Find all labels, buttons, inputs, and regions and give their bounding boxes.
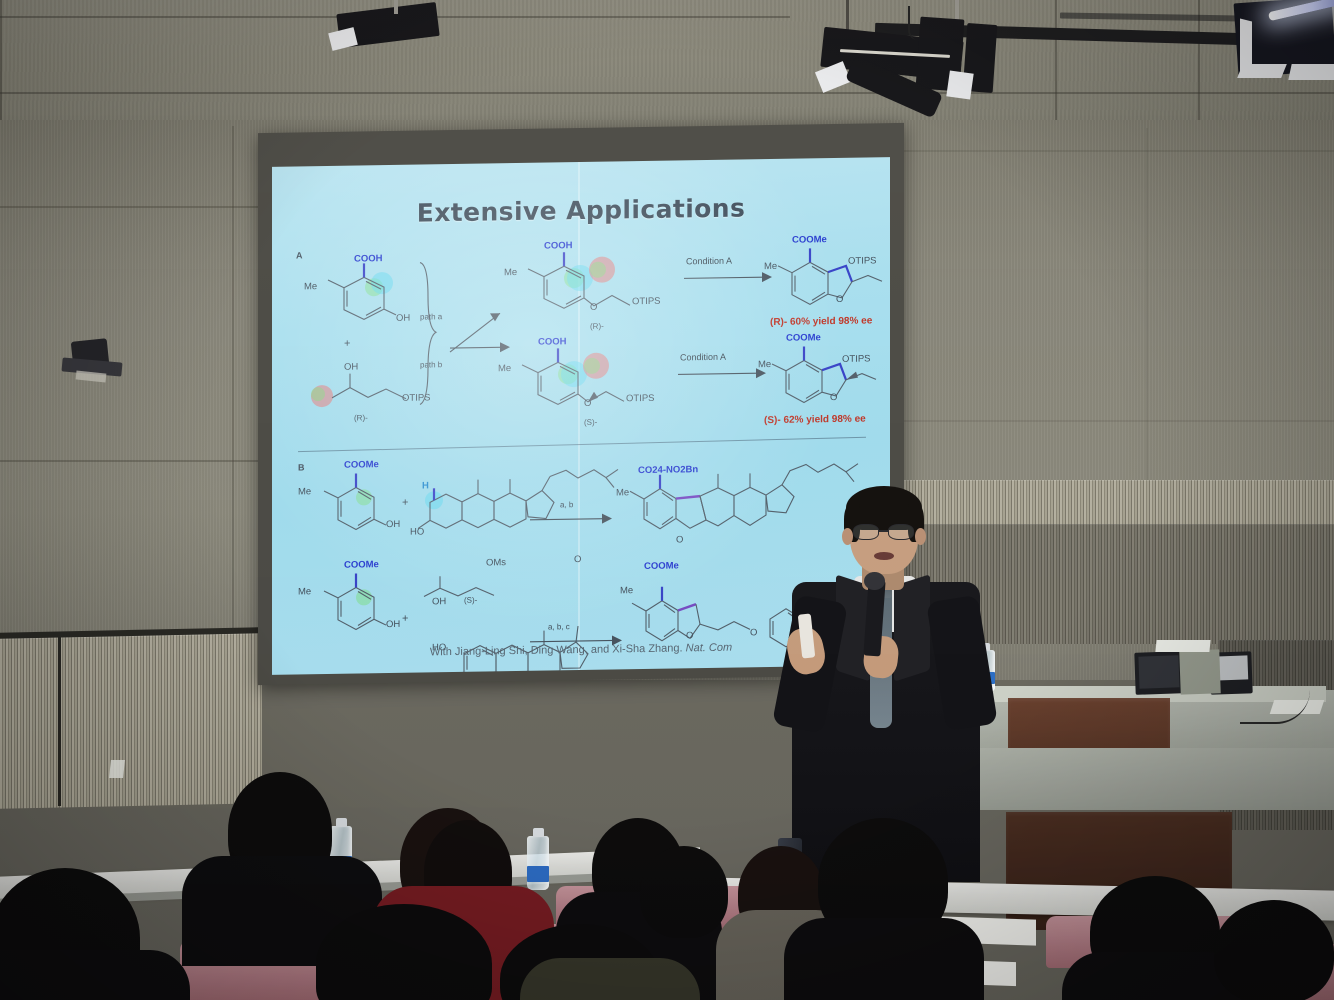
b1-arrow-label: a, b [560, 500, 573, 509]
b2-me: Me [298, 586, 311, 597]
b1-product-o: O [676, 534, 683, 545]
wall-seam [900, 150, 1334, 152]
wainscot-trim [58, 636, 61, 806]
intermediate-r-cooh: COOH [544, 240, 573, 251]
intermediate-s-config: (S)- [584, 418, 597, 427]
presenter-glasses-left [853, 524, 879, 540]
b2-oms: OMs [486, 557, 506, 568]
wall-seam [0, 460, 262, 462]
ceiling-seam [0, 0, 2, 130]
citation-journal: Nat. Com [686, 642, 732, 655]
light-barndoor [1237, 64, 1287, 78]
b2-ketone-o: O [574, 554, 581, 565]
product-s-me: Me [758, 359, 771, 370]
lectern-paper [1155, 640, 1210, 652]
wall-notice [109, 760, 125, 778]
b2-arrow-label: a, b, c [548, 622, 570, 631]
bottle-label [527, 866, 549, 882]
b2-product-me: Me [620, 585, 633, 596]
product-r-me: Me [764, 261, 777, 272]
product-s-o: O [830, 392, 837, 403]
audience-head-front [1214, 900, 1334, 1000]
light-pole [394, 0, 398, 14]
surveillance-camera [62, 340, 132, 392]
intermediate-r-me: Me [504, 267, 517, 278]
scheme-a-reagent1-structure [306, 257, 416, 347]
monitor-screen [1138, 655, 1179, 688]
path-a-label: path a [420, 312, 442, 321]
lectern-monitor-left[interactable] [1134, 651, 1183, 695]
microphone-head [864, 572, 885, 590]
ceiling-seam [0, 92, 1334, 94]
b1-me: Me [298, 486, 311, 497]
intermediate-r-o: O [590, 302, 597, 313]
presenter-ear [842, 528, 853, 545]
condition-a-label-1: Condition A [686, 256, 732, 267]
intermediate-s-otips: OTIPS [626, 393, 655, 404]
scheme-b-row2-estrone-structure [450, 581, 620, 674]
light-barndoor [328, 27, 358, 51]
product-s-otips: OTIPS [842, 353, 871, 364]
bottle-cap [336, 818, 347, 827]
product-r-otips: OTIPS [848, 255, 877, 266]
presenter-ear [915, 528, 926, 545]
product-r-coome: COOMe [792, 234, 827, 246]
intermediate-r-config: (R)- [590, 322, 604, 331]
b2-product-coome: COOMe [644, 560, 679, 572]
wall-seam [900, 420, 1334, 422]
presenter-lapel-right [894, 574, 930, 682]
intermediate-r-otips: OTIPS [632, 296, 661, 307]
reagent1-cooh-label: COOH [354, 253, 383, 264]
b2-oh: OH [386, 619, 400, 630]
scheme-b-row2-reagent-structure [302, 565, 412, 653]
b2-product-ether-o: O [750, 627, 757, 638]
reagent1-oh-label: OH [396, 313, 410, 324]
intermediate-s-o: O [584, 398, 591, 409]
presenter-glasses-bridge [879, 530, 888, 532]
b1-partner-ho: HO [410, 526, 424, 537]
condition-a-label-2: Condition A [680, 352, 726, 363]
power-cable [908, 6, 932, 40]
presenter-mouth [874, 552, 894, 560]
stage-light-right [1232, 0, 1334, 112]
slide-title: Extensive Applications [272, 191, 890, 230]
audience-head-front [640, 846, 728, 938]
b1-partner-h: H [422, 480, 429, 491]
path-b-label: path b [420, 360, 442, 369]
ceiling [0, 0, 1334, 130]
scheme-a-product-r-structure [776, 239, 890, 321]
scheme-a-product-s-structure [770, 337, 886, 419]
b1-product-me: Me [616, 487, 629, 498]
light-barndoor [946, 70, 973, 99]
wall-seam [0, 206, 260, 208]
b1-coome: COOMe [344, 459, 379, 471]
audience-shoulders-front [784, 918, 984, 1000]
lecture-hall-scene: Extensive Applications A COOH Me OH + [0, 0, 1334, 1000]
wall-seam [232, 126, 234, 686]
b1-reaction-arrow [530, 513, 616, 526]
b1-product-ester: CO24-NO2Bn [638, 464, 698, 476]
product-s-result: (S)- 62% yield 98% ee [764, 414, 866, 427]
b2-product-o: O [686, 630, 693, 641]
stage-light-center [800, 0, 1015, 120]
b1-oh: OH [386, 519, 400, 530]
intermediate-s-cooh: COOH [538, 336, 567, 347]
intermediate-s-me: Me [498, 363, 511, 374]
ceiling-seam [1055, 0, 1057, 130]
product-s-coome: COOMe [786, 332, 821, 344]
scheme-b-row1-reagent-structure [302, 465, 412, 553]
camera-mount [76, 370, 107, 382]
audience-shoulders-front [520, 958, 700, 1000]
light-barndoor [1288, 64, 1334, 80]
lectern-panel-plate [1179, 649, 1221, 694]
audience-shoulders-front [0, 950, 190, 1000]
b2-plus: + [402, 613, 408, 625]
reagent2-config: (R)- [354, 413, 368, 422]
b2-coome: COOMe [344, 559, 379, 571]
presenter-glasses-right [888, 524, 914, 540]
scheme-b-row1-steroid-structure [416, 447, 634, 558]
b2-partner-oh: OH [432, 596, 446, 607]
stage-light-left [330, 0, 450, 60]
condition-arrow-1 [684, 271, 778, 286]
reagent1-me-label: Me [304, 281, 317, 292]
water-bottle-desk-2[interactable] [527, 836, 549, 890]
wall-seam [1146, 128, 1148, 528]
bottle-cap [533, 828, 544, 837]
reagent2-oh-label: OH [344, 361, 358, 372]
scheme-a-plus: + [344, 338, 350, 350]
scheme-a-label: A [296, 250, 303, 260]
b1-plus: + [402, 497, 408, 509]
product-r-result: (R)- 60% yield 98% ee [770, 315, 872, 328]
product-r-o: O [836, 294, 843, 305]
acoustic-panel-left [0, 633, 262, 808]
